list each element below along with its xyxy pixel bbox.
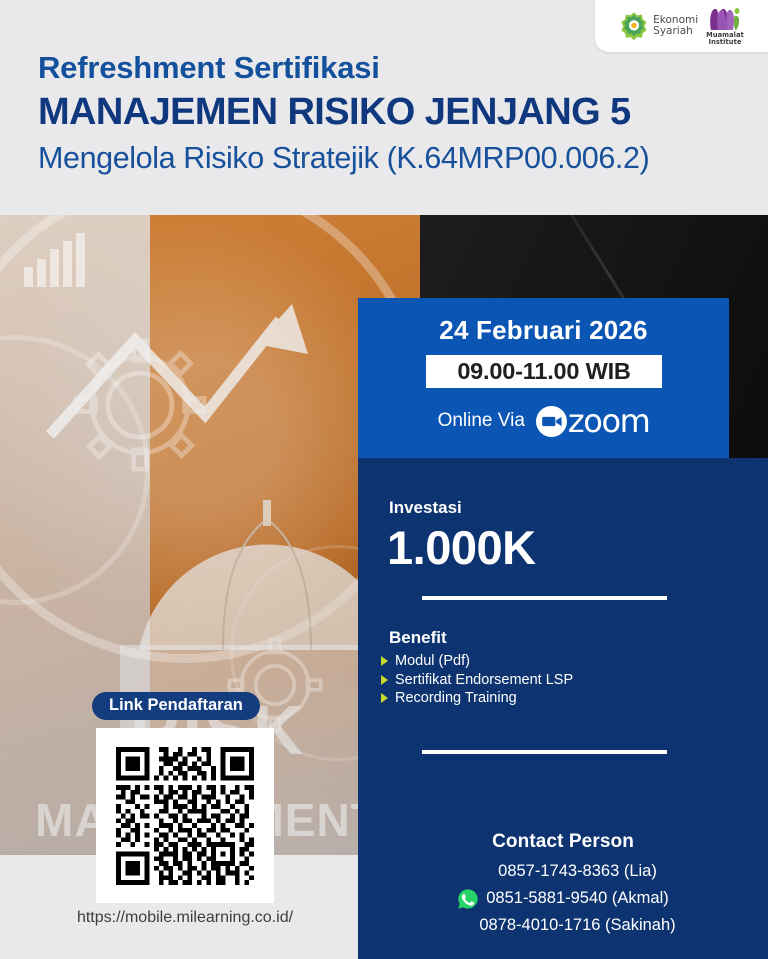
contact-icon-placeholder xyxy=(450,915,472,937)
poster-root: Ekonomi Syariah Muamalat Institute Refre… xyxy=(0,0,768,959)
contact-number: 0878-4010-1716 (Sakinah) xyxy=(479,916,675,935)
contact-title: Contact Person xyxy=(358,831,768,853)
header: Ekonomi Syariah Muamalat Institute Refre… xyxy=(0,0,768,215)
ekonomi-syariah-logo: Ekonomi Syariah xyxy=(619,11,698,41)
contact-row[interactable]: 0851-5881-9540 (Akmal) xyxy=(358,885,768,912)
logo-card: Ekonomi Syariah Muamalat Institute xyxy=(595,0,768,52)
contact-icon-placeholder xyxy=(469,861,491,883)
muamalat-institute-icon xyxy=(708,6,742,32)
registration-badge[interactable]: Link Pendaftaran xyxy=(92,692,260,720)
list-item: Sertifikat Endorsement LSP xyxy=(381,671,711,690)
bullet-triangle-icon xyxy=(381,675,388,685)
benefit-text: Sertifikat Endorsement LSP xyxy=(395,672,573,688)
contact-number: 0857-1743-8363 (Lia) xyxy=(498,862,657,881)
page-subtitle: Mengelola Risiko Stratejik (K.64MRP00.00… xyxy=(38,137,750,180)
zoom-logo: zoom xyxy=(536,405,650,437)
pricing-label: Investasi xyxy=(389,498,462,518)
ekonomi-syariah-label: Ekonomi Syariah xyxy=(653,15,698,37)
contact-row: 0857-1743-8363 (Lia) xyxy=(358,858,768,885)
bullet-triangle-icon xyxy=(381,656,388,666)
growth-arrow-icon xyxy=(40,270,370,470)
event-time-box: 09.00-11.00 WIB xyxy=(426,355,662,388)
whatsapp-icon[interactable] xyxy=(457,888,479,910)
benefit-list: Modul (Pdf) Sertifikat Endorsement LSP R… xyxy=(381,652,711,708)
zoom-camera-icon xyxy=(536,406,567,437)
title-block: Refreshment Sertifikasi MANAJEMEN RISIKO… xyxy=(38,48,750,180)
zoom-wordmark: zoom xyxy=(568,405,650,437)
benefit-text: Recording Training xyxy=(395,690,517,706)
event-time: 09.00-11.00 WIB xyxy=(457,358,630,385)
divider-top xyxy=(422,596,667,600)
online-via-label: Online Via xyxy=(438,410,525,432)
qr-card[interactable] xyxy=(96,728,274,903)
eyebrow-text: Refreshment Sertifikasi xyxy=(38,48,750,88)
qr-code[interactable] xyxy=(116,747,254,885)
event-date: 24 Februari 2026 xyxy=(358,315,729,346)
pricing-amount: 1.000K xyxy=(387,522,536,574)
benefit-text: Modul (Pdf) xyxy=(395,653,470,669)
ekonomi-syariah-icon xyxy=(619,11,649,41)
muamalat-institute-logo: Muamalat Institute xyxy=(706,6,744,47)
bullet-triangle-icon xyxy=(381,693,388,703)
contact-row: 0878-4010-1716 (Sakinah) xyxy=(358,912,768,939)
benefit-label: Benefit xyxy=(389,628,447,648)
contact-number: 0851-5881-9540 (Akmal) xyxy=(486,889,669,908)
registration-url[interactable]: https://mobile.milearning.co.id/ xyxy=(20,909,350,927)
muamalat-institute-label: Muamalat Institute xyxy=(706,32,744,47)
list-item: Recording Training xyxy=(381,689,711,708)
list-item: Modul (Pdf) xyxy=(381,652,711,671)
contact-list: 0857-1743-8363 (Lia) 0851-5881-9540 (Akm… xyxy=(358,858,768,939)
divider-bottom xyxy=(422,750,667,754)
platform-row: Online Via zoom xyxy=(358,400,729,442)
page-title: MANAJEMEN RISIKO JENJANG 5 xyxy=(38,88,750,137)
